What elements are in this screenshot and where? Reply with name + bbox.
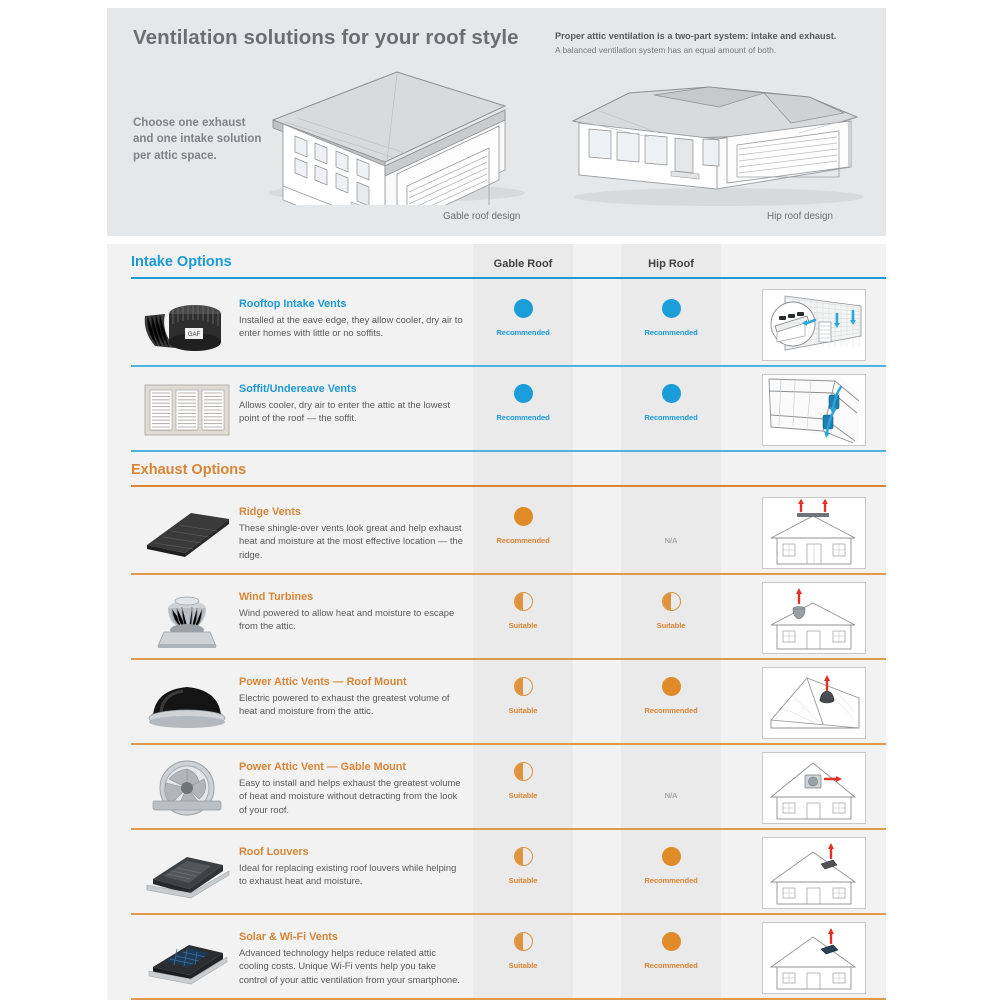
- status-marker-full-icon: [662, 932, 681, 951]
- section-title-exhaust: Exhaust Options: [131, 462, 246, 478]
- ventilation-note: Proper attic ventilation is a two-part s…: [555, 30, 875, 57]
- status-marker-half-icon: [662, 592, 681, 611]
- product-name: Soffit/Undereave Vents: [239, 383, 464, 396]
- status-cell-hip: N/A: [621, 762, 721, 800]
- row-text: Power Attic Vents — Roof Mount Electric …: [239, 676, 464, 718]
- ridge-vent-strip-photo: [137, 502, 237, 564]
- status-cell-hip: N/A: [621, 507, 721, 545]
- product-name: Ridge Vents: [239, 506, 464, 519]
- ventilation-note-subline: A balanced ventilation system has an equ…: [555, 44, 875, 57]
- ventilation-note-headline: Proper attic ventilation is a two-part s…: [555, 30, 875, 43]
- section-title-intake: Intake Options: [131, 254, 232, 270]
- status-label: Suitable: [473, 961, 573, 970]
- hip-roof-caption: Hip roof design: [767, 211, 833, 222]
- status-marker-half-icon: [514, 847, 533, 866]
- product-description: These shingle-over vents look great and …: [239, 521, 464, 561]
- status-cell-hip: Recommended: [621, 932, 721, 970]
- row-text: Roof Louvers Ideal for replacing existin…: [239, 846, 464, 888]
- wind-turbine-exhaust-diagram: [762, 582, 866, 654]
- status-label: Recommended: [621, 413, 721, 422]
- product-description: Wind powered to allow heat and moisture …: [239, 606, 464, 633]
- status-cell-gable: Suitable: [473, 932, 573, 970]
- status-marker-full-icon: [662, 299, 681, 318]
- table-row[interactable]: Power Attic Vents — Roof Mount Electric …: [107, 660, 886, 745]
- infographic-page: Ventilation solutions for your roof styl…: [0, 0, 1000, 1000]
- status-label: Suitable: [473, 791, 573, 800]
- column-header-gable: Gable Roof: [473, 258, 573, 270]
- status-label: N/A: [621, 791, 721, 800]
- status-cell-gable: Recommended: [473, 299, 573, 337]
- product-name: Rooftop Intake Vents: [239, 298, 464, 311]
- status-marker-half-icon: [514, 592, 533, 611]
- power-roof-mount-exhaust-diagram: [762, 667, 866, 739]
- table-row[interactable]: Wind Turbines Wind powered to allow heat…: [107, 575, 886, 660]
- status-cell-hip: Recommended: [621, 299, 721, 337]
- product-description: Easy to install and helps exhaust the gr…: [239, 776, 464, 816]
- hip-house-illustration: [559, 63, 869, 208]
- product-description: Electric powered to exhaust the greatest…: [239, 691, 464, 718]
- status-marker-full-icon: [662, 847, 681, 866]
- eave-edge-intake-diagram: [762, 289, 866, 361]
- row-text: Ridge Vents These shingle-over vents loo…: [239, 506, 464, 562]
- section-header-exhaust: Exhaust Options: [131, 452, 886, 490]
- status-marker-none-icon: [662, 507, 681, 526]
- status-marker-half-icon: [514, 762, 533, 781]
- power-attic-vent-gable-mount-photo: [137, 757, 237, 819]
- soffit-undereave-intake-diagram: [762, 374, 866, 446]
- product-name: Power Attic Vents — Roof Mount: [239, 676, 464, 689]
- table-row[interactable]: GAF Rooftop Intake Vents Installed at th…: [107, 282, 886, 367]
- solar-wifi-vent-photo: [137, 927, 237, 989]
- product-description: Ideal for replacing existing roof louver…: [239, 861, 464, 888]
- status-marker-half-icon: [514, 677, 533, 696]
- product-description: Allows cooler, dry air to enter the atti…: [239, 398, 464, 425]
- status-label: N/A: [621, 536, 721, 545]
- power-attic-vent-roof-mount-photo: [137, 672, 237, 734]
- hero-banner: Ventilation solutions for your roof styl…: [107, 8, 886, 236]
- product-description: Advanced technology helps reduce related…: [239, 946, 464, 986]
- status-cell-hip: Suitable: [621, 592, 721, 630]
- gable-roof-caption: Gable roof design: [443, 211, 520, 222]
- rooftop-intake-vent-roll-photo: GAF: [137, 294, 237, 356]
- row-text: Rooftop Intake Vents Installed at the ea…: [239, 298, 464, 340]
- roof-louver-exhaust-diagram: [762, 837, 866, 909]
- status-marker-half-icon: [514, 932, 533, 951]
- section-rule: [131, 485, 886, 487]
- status-label: Recommended: [473, 413, 573, 422]
- table-row[interactable]: Soffit/Undereave Vents Allows cooler, dr…: [107, 367, 886, 452]
- status-cell-gable: Suitable: [473, 592, 573, 630]
- svg-text:GAF: GAF: [188, 332, 201, 338]
- table-row[interactable]: Ridge Vents These shingle-over vents loo…: [107, 490, 886, 575]
- status-label: Suitable: [621, 621, 721, 630]
- status-cell-hip: Recommended: [621, 677, 721, 715]
- status-label: Recommended: [621, 328, 721, 337]
- status-marker-full-icon: [514, 507, 533, 526]
- status-label: Recommended: [621, 876, 721, 885]
- status-marker-full-icon: [514, 299, 533, 318]
- status-cell-gable: Suitable: [473, 677, 573, 715]
- status-cell-hip: Recommended: [621, 384, 721, 422]
- power-gable-mount-exhaust-diagram: [762, 752, 866, 824]
- row-text: Solar & Wi-Fi Vents Advanced technology …: [239, 931, 464, 987]
- table-row[interactable]: Roof Louvers Ideal for replacing existin…: [107, 830, 886, 915]
- solar-wifi-vent-exhaust-diagram: [762, 922, 866, 994]
- status-label: Suitable: [473, 706, 573, 715]
- roof-louver-photo: [137, 842, 237, 904]
- status-label: Recommended: [473, 328, 573, 337]
- table-row[interactable]: Solar & Wi-Fi Vents Advanced technology …: [107, 915, 886, 1000]
- table-row[interactable]: Power Attic Vent — Gable Mount Easy to i…: [107, 745, 886, 830]
- options-table-panel: Intake Options Gable RoofHip Roof GAF: [107, 244, 886, 1000]
- status-cell-gable: Suitable: [473, 847, 573, 885]
- row-text: Power Attic Vent — Gable Mount Easy to i…: [239, 761, 464, 817]
- status-marker-full-icon: [662, 384, 681, 403]
- page-title: Ventilation solutions for your roof styl…: [133, 26, 519, 50]
- status-cell-hip: Recommended: [621, 847, 721, 885]
- wind-turbine-photo: [137, 587, 237, 649]
- status-marker-full-icon: [662, 677, 681, 696]
- ridge-vent-exhaust-diagram: [762, 497, 866, 569]
- status-cell-gable: Suitable: [473, 762, 573, 800]
- status-label: Recommended: [621, 706, 721, 715]
- status-label: Recommended: [473, 536, 573, 545]
- gable-house-illustration: [237, 50, 527, 205]
- soffit-louver-panel-photo: [137, 379, 237, 441]
- product-name: Wind Turbines: [239, 591, 464, 604]
- status-label: Recommended: [621, 961, 721, 970]
- status-cell-gable: Recommended: [473, 507, 573, 545]
- row-text: Soffit/Undereave Vents Allows cooler, dr…: [239, 383, 464, 425]
- product-name: Roof Louvers: [239, 846, 464, 859]
- status-marker-none-icon: [662, 762, 681, 781]
- row-text: Wind Turbines Wind powered to allow heat…: [239, 591, 464, 633]
- status-cell-gable: Recommended: [473, 384, 573, 422]
- section-rule: [131, 277, 886, 279]
- product-name: Solar & Wi-Fi Vents: [239, 931, 464, 944]
- status-label: Suitable: [473, 621, 573, 630]
- status-marker-full-icon: [514, 384, 533, 403]
- product-name: Power Attic Vent — Gable Mount: [239, 761, 464, 774]
- status-label: Suitable: [473, 876, 573, 885]
- product-description: Installed at the eave edge, they allow c…: [239, 313, 464, 340]
- column-header-hip: Hip Roof: [621, 258, 721, 270]
